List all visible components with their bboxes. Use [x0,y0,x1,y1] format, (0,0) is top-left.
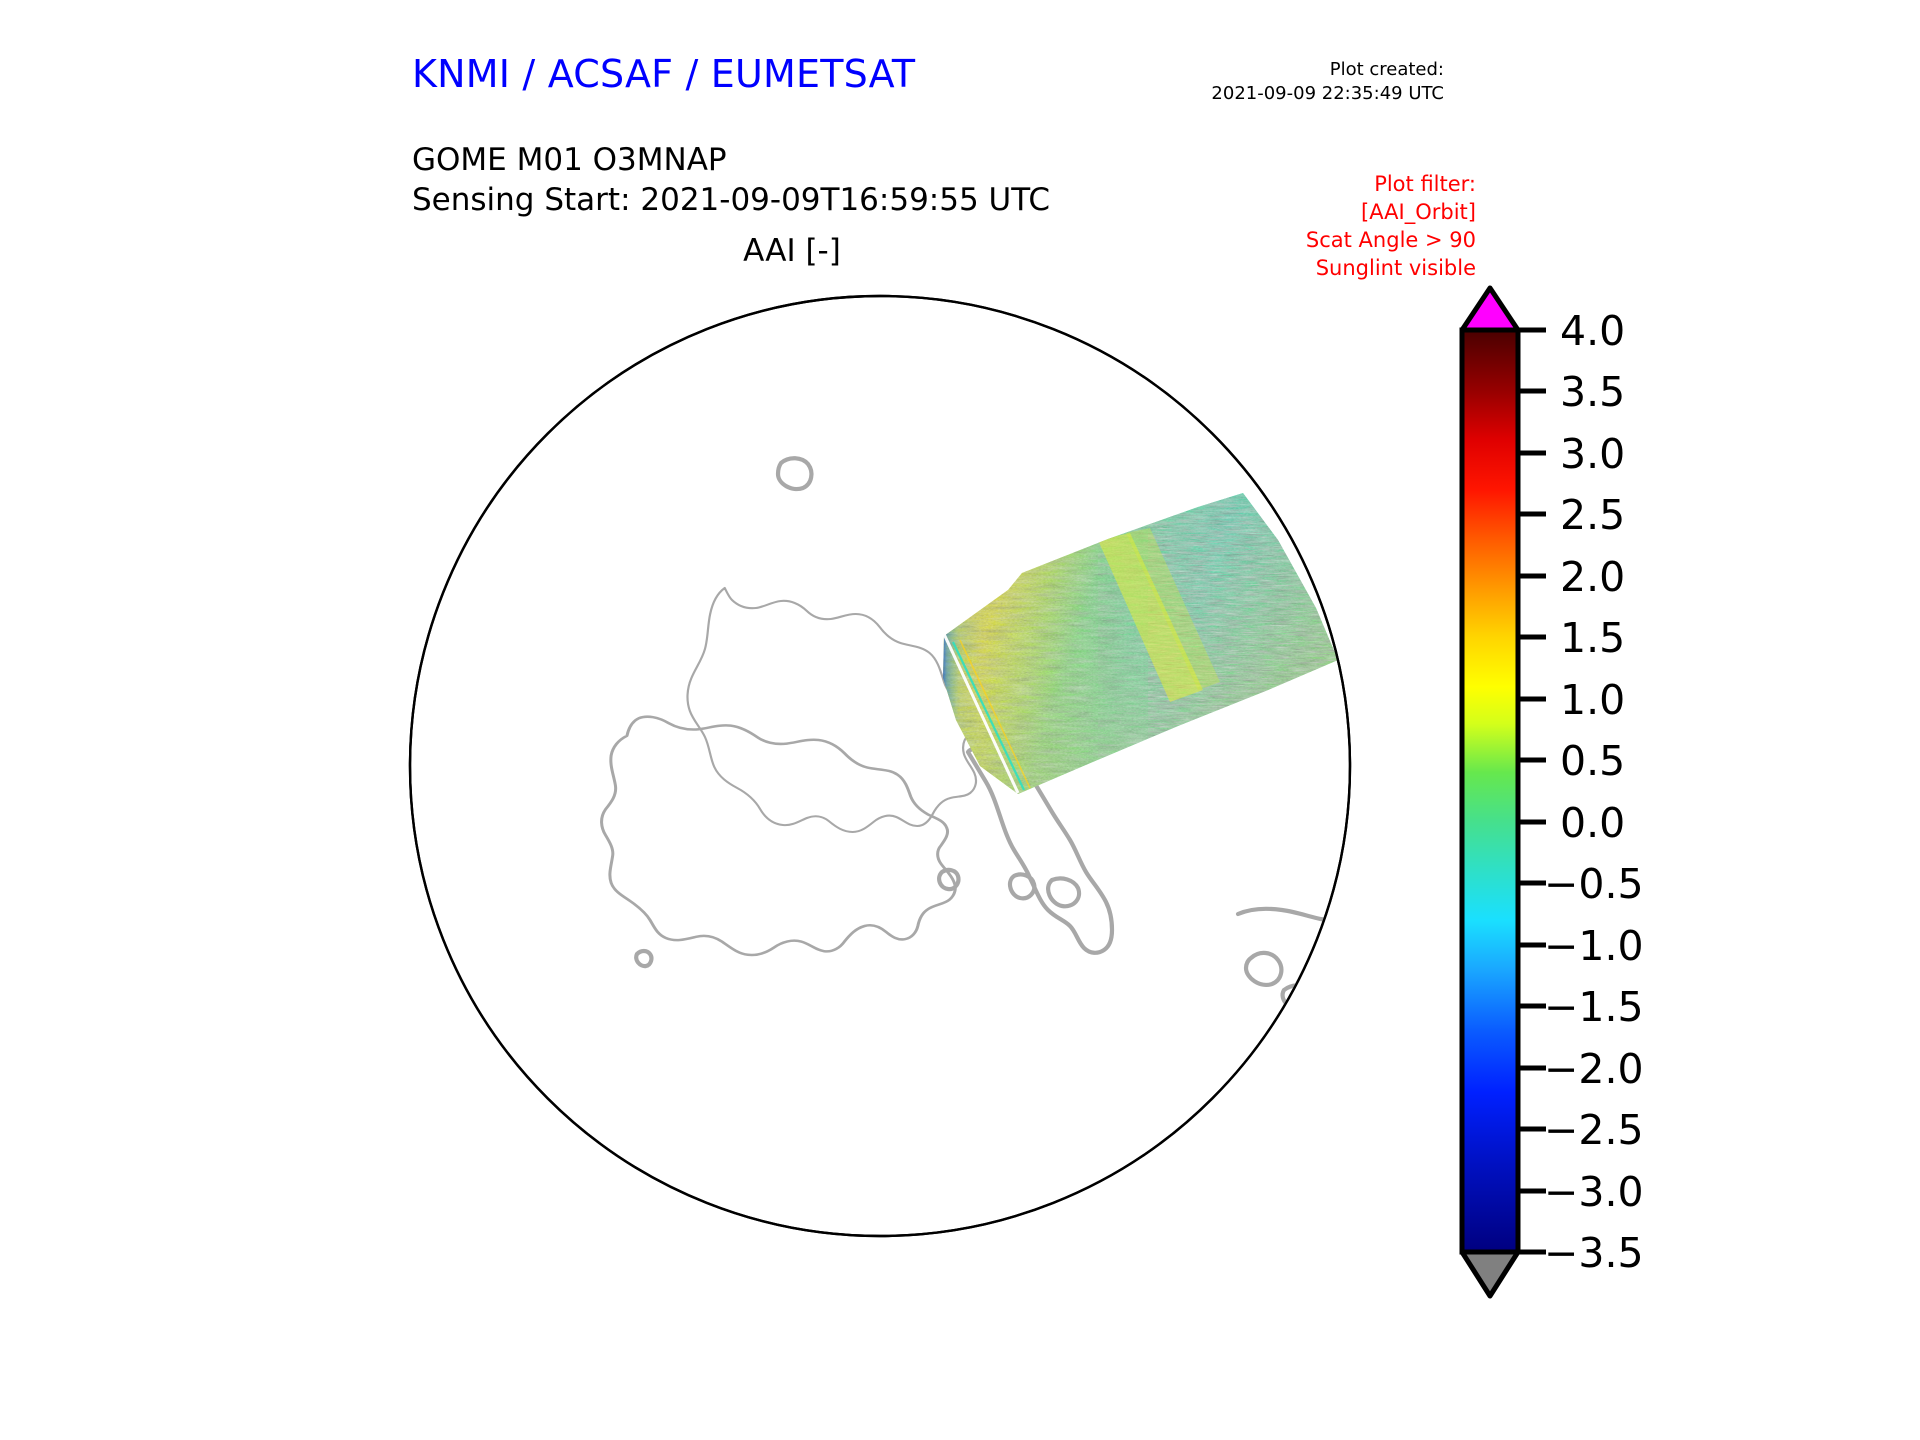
plot-created-label: Plot created: [1211,58,1444,82]
colorbar-label: 1.0 [1560,676,1625,724]
colorbar-label: 0.0 [1560,799,1625,847]
sensing-start: Sensing Start: 2021-09-09T16:59:55 UTC [412,180,1050,220]
plot-filter-block: Plot filter: [AAI_Orbit] Scat Angle > 90… [1306,170,1476,283]
colorbar-label: −3.0 [1544,1168,1644,1216]
colorbar-label: 2.0 [1560,553,1625,601]
colorbar-svg: 4.0 3.5 3.0 2.5 2.0 1.5 1.0 0.5 0.0 −0.5… [1432,282,1732,1304]
colorbar-label: −2.0 [1544,1045,1644,1093]
colorbar-label: −2.5 [1544,1106,1644,1154]
colorbar-over-arrow [1462,288,1518,330]
colorbar-label: 3.5 [1560,368,1625,416]
colorbar-label: 2.5 [1560,491,1625,539]
colorbar-label: −3.5 [1544,1229,1644,1277]
colorbar-ticks [1518,330,1546,1252]
plot-created-value: 2021-09-09 22:35:49 UTC [1211,82,1444,106]
colorbar-under-arrow [1462,1252,1518,1296]
plot-filter-dataset: [AAI_Orbit] [1306,198,1476,226]
plot-filter-sunglint: Sunglint visible [1306,254,1476,282]
globe-boundary-circle [410,296,1350,1236]
plot-filter-scat-angle: Scat Angle > 90 [1306,226,1476,254]
organisation-title: KNMI / ACSAF / EUMETSAT [412,52,915,96]
colorbar: 4.0 3.5 3.0 2.5 2.0 1.5 1.0 0.5 0.0 −0.5… [1432,282,1732,1304]
quantity-title: AAI [-] [412,233,1172,269]
colorbar-label: −1.5 [1544,983,1644,1031]
colorbar-gradient [1462,330,1518,1252]
plot-canvas: KNMI / ACSAF / EUMETSAT Plot created: 20… [0,0,1920,1440]
colorbar-label: 4.0 [1560,307,1625,355]
colorbar-label: 3.0 [1560,430,1625,478]
colorbar-label: −1.0 [1544,922,1644,970]
instrument-title: GOME M01 O3MNAP [412,140,1050,180]
colorbar-tick-labels: 4.0 3.5 3.0 2.5 2.0 1.5 1.0 0.5 0.0 −0.5… [1544,307,1644,1277]
colorbar-label: 1.5 [1560,614,1625,662]
plot-created-block: Plot created: 2021-09-09 22:35:49 UTC [1211,58,1444,106]
coastline-patagonia-inlet [1317,953,1347,980]
map-globe [408,290,1360,1242]
colorbar-label: 0.5 [1560,737,1625,785]
globe-svg [408,290,1360,1242]
title-block: GOME M01 O3MNAP Sensing Start: 2021-09-0… [412,140,1050,221]
plot-filter-label: Plot filter: [1306,170,1476,198]
colorbar-label: −0.5 [1544,860,1644,908]
